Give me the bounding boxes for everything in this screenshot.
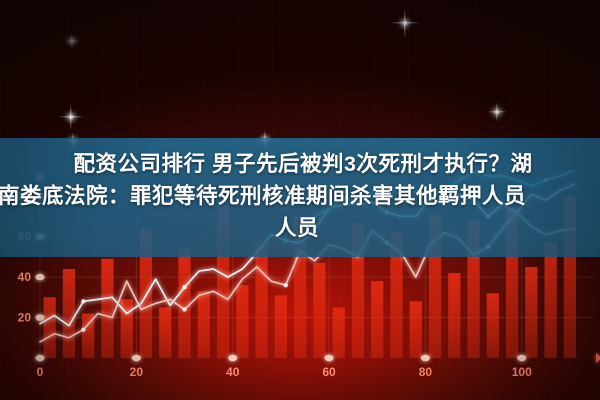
headline-line-1: 配资公司排行 男子先后被判3次死刑才执行？湖 [74, 148, 533, 180]
headline-line-2: 南娄底法院：罪犯等待死刑核准期间杀害其他羁押人员 [0, 180, 526, 212]
screenshot-root: 20406080020406080100 配资公司排行 男子先后被判3次死刑才执… [0, 0, 600, 400]
headline-line-3: 人员 [275, 212, 319, 244]
headline-text-block: 配资公司排行 男子先后被判3次死刑才执行？湖 南娄底法院：罪犯等待死刑核准期间杀… [0, 138, 600, 268]
